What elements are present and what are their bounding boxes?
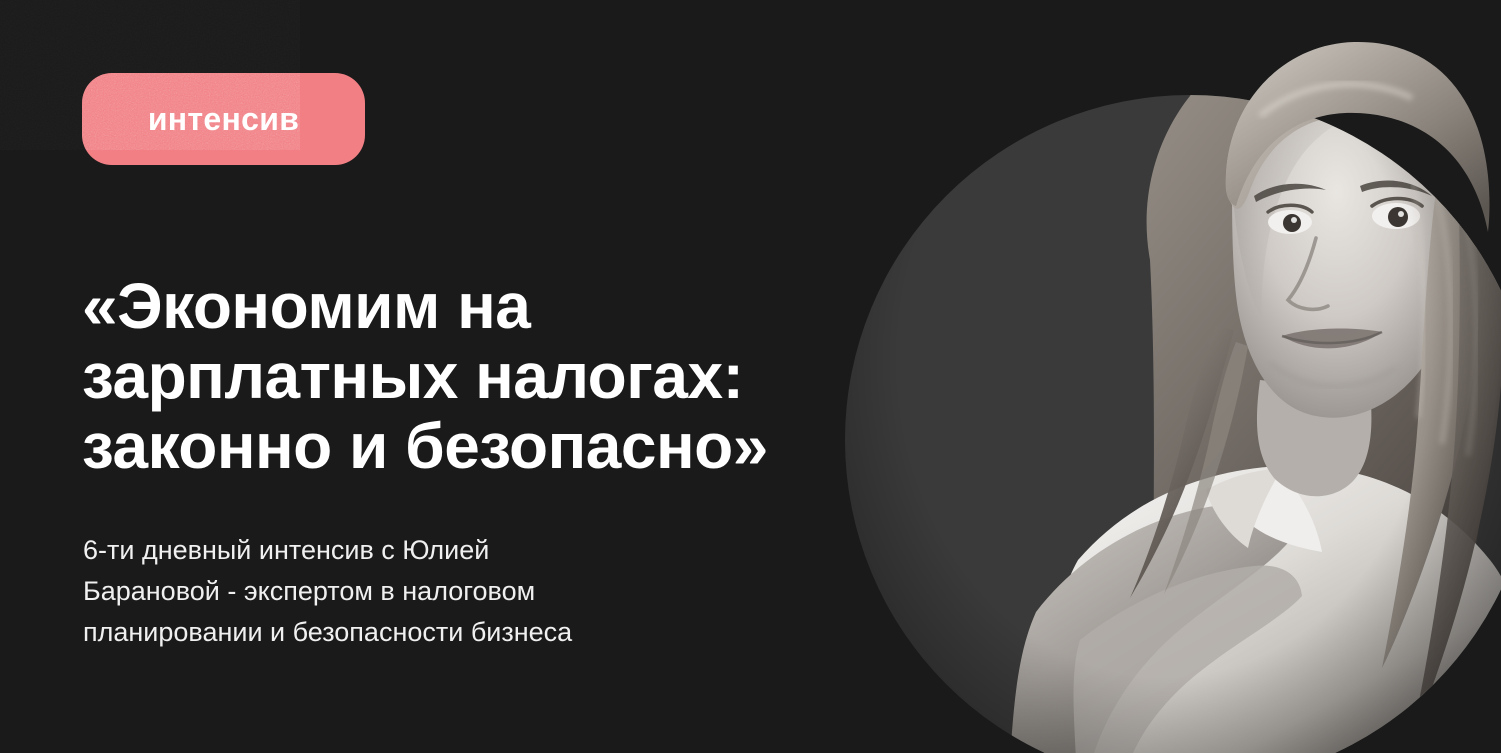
page-title: «Экономим на зарплатных налогах: законно…: [82, 271, 842, 481]
promo-banner: интенсив «Экономим на зарплатных налогах…: [0, 0, 1501, 753]
headline-line-3: законно и безопасно»: [82, 411, 842, 481]
subtitle-line-1: 6-ти дневный интенсив с Юлией: [83, 530, 783, 571]
text-column: интенсив «Экономим на зарплатных налогах…: [0, 0, 880, 753]
headline-line-2: зарплатных налогах:: [82, 341, 842, 411]
subtitle-line-3: планировании и безопасности бизнеса: [83, 612, 783, 653]
portrait-medallion: [830, 0, 1501, 753]
portrait-illustration: [830, 0, 1501, 753]
intensive-badge-label: интенсив: [148, 103, 299, 135]
headline-line-1: «Экономим на: [82, 271, 842, 341]
page-subtitle: 6-ти дневный интенсив с Юлией Барановой …: [83, 530, 783, 653]
intensive-badge: интенсив: [82, 73, 365, 165]
subtitle-line-2: Барановой - экспертом в налоговом: [83, 571, 783, 612]
